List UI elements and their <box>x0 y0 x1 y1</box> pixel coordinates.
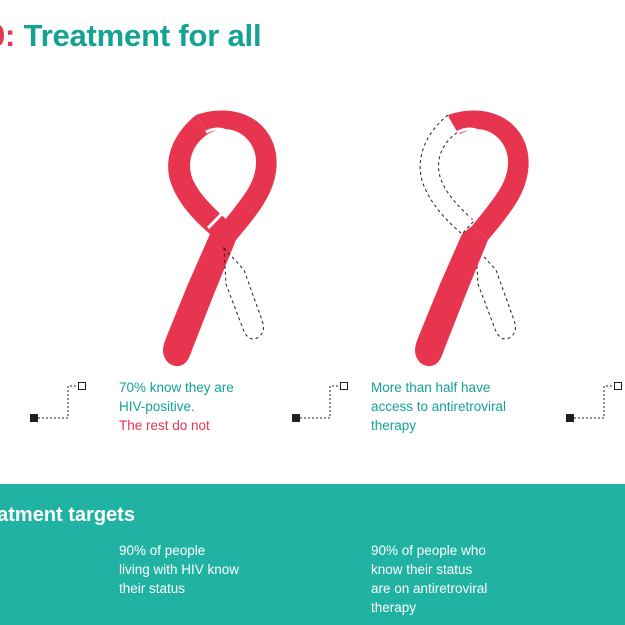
panel-column-1: 90% of people living with HIV know their… <box>119 541 299 598</box>
panel-line: are on antiretroviral <box>371 579 551 598</box>
ribbon-icon <box>362 88 572 378</box>
caption-line: More than half have <box>371 378 556 397</box>
ribbon-2-caption: More than half have access to antiretrov… <box>371 378 556 435</box>
panel-line: therapy <box>371 598 551 617</box>
caption-line: therapy <box>371 416 556 435</box>
panel-line: living with HIV know <box>119 560 299 579</box>
panel-line: their status <box>119 579 299 598</box>
panel-title: eatment targets <box>0 504 135 527</box>
connector-left-edge <box>20 378 90 424</box>
ribbon-more-than-half <box>362 88 572 378</box>
panel-line: 90% of people who <box>371 541 551 560</box>
panel-line: 90% of people <box>119 541 299 560</box>
ribbon-1-caption: 70% know they are HIV-positive. The rest… <box>119 378 304 435</box>
page-title-rest: Treatment for all <box>15 18 261 53</box>
caption-line: 70% know they are <box>119 378 304 397</box>
ribbon-icon <box>110 88 320 378</box>
connector-right-edge <box>556 378 625 424</box>
ribbon-70-percent <box>110 88 320 378</box>
caption-highlight: The rest do not <box>119 416 304 435</box>
infographic-page: 0: Treatment for all <box>0 0 625 625</box>
panel-line: know their status <box>371 560 551 579</box>
caption-line: HIV-positive. <box>119 397 304 416</box>
page-title-accent: 0: <box>0 18 15 53</box>
panel-column-2: 90% of people who know their status are … <box>371 541 551 617</box>
header: 0: Treatment for all <box>0 8 625 64</box>
caption-line: access to antiretroviral <box>371 397 556 416</box>
page-title: 0: Treatment for all <box>0 18 261 54</box>
treatment-targets-panel: eatment targets 90% of people living wit… <box>0 484 625 625</box>
